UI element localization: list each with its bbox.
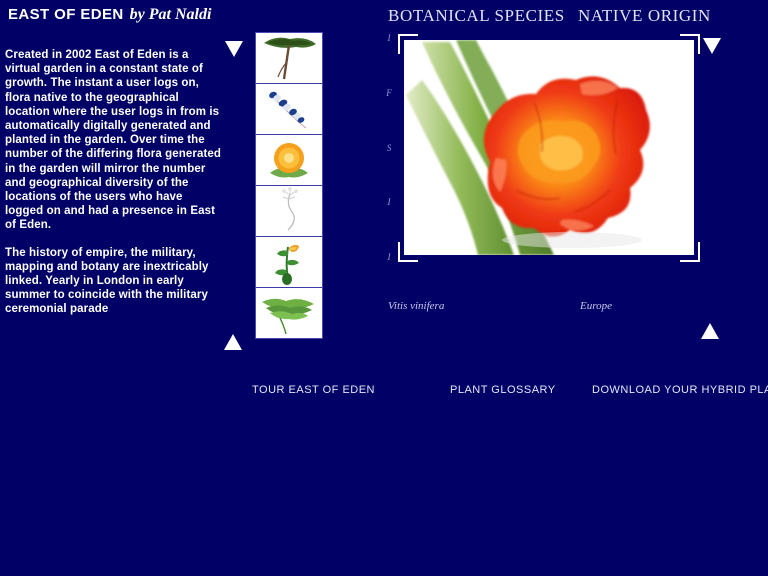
- index-letter-3: S: [387, 144, 392, 153]
- thumbnail-green-foliage[interactable]: [256, 288, 322, 338]
- caption-native-origin: Europe: [580, 300, 612, 312]
- intro-paragraph-2: The history of empire, the military, map…: [5, 246, 223, 317]
- index-letter-2: F: [386, 89, 392, 98]
- thumbnail-pale-stem[interactable]: [256, 186, 322, 237]
- intro-text-block: Created in 2002 East of Eden is a virtua…: [5, 48, 223, 317]
- text-scroll-up-arrow-icon[interactable]: [224, 334, 242, 350]
- thumbnail-sunflower[interactable]: [256, 135, 322, 186]
- caption-botanical-species: Vitis vinifera: [388, 300, 444, 312]
- nav-download-hybrid-plant[interactable]: DOWNLOAD YOUR HYBRID PLANT: [592, 384, 768, 396]
- nav-tour-east-of-eden[interactable]: TOUR EAST OF EDEN: [252, 384, 375, 396]
- column-heading-native-origin: NATIVE ORIGIN: [578, 6, 711, 26]
- thumbnail-tree[interactable]: [256, 33, 322, 84]
- nav-plant-glossary[interactable]: PLANT GLOSSARY: [450, 384, 556, 396]
- index-letter-4: I: [388, 198, 391, 207]
- thumbnail-orange-bloom[interactable]: [256, 237, 322, 288]
- index-letter-5: I: [388, 253, 391, 262]
- page-title: EAST OF EDENby Pat Naldi: [8, 6, 211, 24]
- species-scroll-down-arrow-icon[interactable]: [703, 38, 721, 54]
- title-author-text: by Pat Naldi: [130, 6, 212, 23]
- index-letter-1: I: [388, 34, 391, 43]
- text-scroll-down-arrow-icon[interactable]: [225, 41, 243, 57]
- specimen-photo[interactable]: [404, 40, 694, 255]
- thumbnail-strip: [255, 32, 323, 339]
- specimen-image-frame: [398, 34, 700, 262]
- index-letter-column: I F S I I: [382, 34, 396, 262]
- page-root: EAST OF EDENby Pat Naldi Created in 2002…: [0, 0, 768, 576]
- intro-paragraph-1: Created in 2002 East of Eden is a virtua…: [5, 48, 223, 233]
- species-scroll-up-arrow-icon[interactable]: [701, 323, 719, 339]
- column-heading-botanical-species: BOTANICAL SPECIES: [388, 6, 565, 26]
- title-main-text: EAST OF EDEN: [8, 6, 124, 23]
- thumbnail-blue-flowers[interactable]: [256, 84, 322, 135]
